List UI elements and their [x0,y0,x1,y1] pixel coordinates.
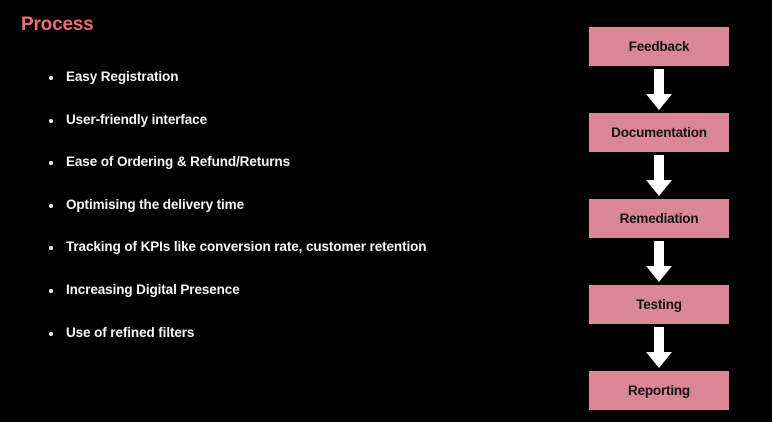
slide-canvas: Process Easy Registration User-friendly … [0,0,772,422]
flow-connector [589,66,729,113]
bullet-dot-icon [49,119,53,123]
list-item: Tracking of KPIs like conversion rate, c… [44,240,564,283]
flow-node-label: Feedback [629,40,690,54]
arrow-down-icon [645,155,673,197]
bullet-dot-icon [49,246,53,250]
bullet-dot-icon [49,76,53,80]
bullet-dot-icon [49,332,53,336]
list-item-label: Use of refined filters [66,326,194,340]
list-item-label: Optimising the delivery time [66,198,244,212]
flow-node-testing: Testing [589,285,729,324]
list-item-label: Ease of Ordering & Refund/Returns [66,155,290,169]
process-flowchart: Feedback Documentation Remediation Testi… [589,27,729,409]
bullet-dot-icon [49,204,53,208]
flow-node-reporting: Reporting [589,371,729,410]
flow-node-feedback: Feedback [589,27,729,66]
list-item: User-friendly interface [44,113,564,156]
arrow-down-icon [645,69,673,111]
bullet-dot-icon [49,289,53,293]
flow-connector [589,324,729,371]
list-item: Optimising the delivery time [44,198,564,241]
list-item: Ease of Ordering & Refund/Returns [44,155,564,198]
arrow-down-icon [645,241,673,283]
bullet-dot-icon [49,161,53,165]
list-item-label: User-friendly interface [66,113,207,127]
list-item-label: Increasing Digital Presence [66,283,240,297]
flow-node-remediation: Remediation [589,199,729,238]
list-item: Use of refined filters [44,326,564,369]
flow-node-label: Testing [636,298,682,312]
page-title: Process [21,14,94,36]
flow-connector [589,238,729,285]
list-item-label: Tracking of KPIs like conversion rate, c… [66,240,426,254]
flow-node-label: Reporting [628,384,690,398]
flow-connector [589,152,729,199]
list-item: Increasing Digital Presence [44,283,564,326]
list-item-label: Easy Registration [66,70,178,84]
flow-node-documentation: Documentation [589,113,729,152]
list-item: Easy Registration [44,70,564,113]
flow-node-label: Documentation [611,126,707,140]
arrow-down-icon [645,327,673,369]
flow-node-label: Remediation [620,212,699,226]
feature-bullet-list: Easy Registration User-friendly interfac… [44,70,564,368]
